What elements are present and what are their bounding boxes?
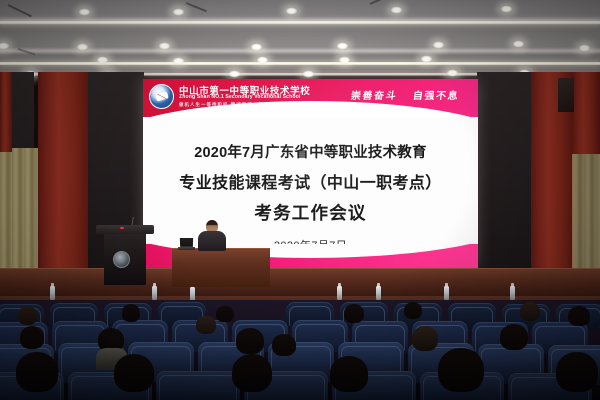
lectern-emblem-icon [113, 251, 130, 268]
ceiling-rail [186, 2, 207, 12]
recessed-downlight [512, 40, 525, 48]
water-bottle [152, 286, 157, 300]
right-speaker-box [558, 78, 574, 112]
water-bottle [444, 286, 449, 300]
linear-light-strip [0, 62, 600, 65]
water-bottle [337, 286, 342, 300]
laptop-keyboard [178, 247, 195, 250]
recessed-downlight [0, 42, 10, 50]
recessed-downlight [76, 43, 89, 51]
ceiling-rail [370, 0, 393, 5]
recessed-downlight [256, 56, 269, 64]
audience-member [18, 306, 37, 325]
audience-member [272, 334, 296, 356]
water-bottle [376, 286, 381, 300]
recessed-downlight [228, 70, 241, 78]
auditorium-seat [156, 371, 240, 400]
recessed-downlight [158, 42, 171, 50]
recessed-downlight [172, 8, 185, 16]
recessed-downlight [338, 56, 351, 64]
recessed-downlight [500, 5, 513, 13]
calligraphy-right: 自强不息 [412, 87, 460, 102]
recessed-downlight [285, 7, 298, 15]
recessed-downlight [390, 6, 403, 14]
water-bottle [510, 286, 515, 300]
title-line-1: 2020年7月广东省中等职业技术教育 [194, 141, 426, 162]
audience-member [404, 302, 422, 319]
recessed-downlight [250, 43, 263, 51]
audience-member [520, 302, 540, 321]
audience-member [556, 352, 598, 392]
lectern-indicator-light [120, 227, 124, 229]
school-name-en: Zhong Shan NO.1 Secondary Vocational Sch… [179, 94, 300, 100]
recessed-downlight [336, 42, 349, 50]
right-wall-dark-panel [477, 72, 533, 300]
audience-member [412, 326, 438, 351]
school-emblem-icon [149, 84, 174, 109]
title-line-3: 考务工作会议 [254, 200, 366, 225]
audience-member [568, 306, 590, 326]
ceiling [0, 0, 600, 76]
linear-light-strip [0, 21, 600, 24]
audience-member [20, 326, 44, 349]
lectern-top [96, 225, 154, 234]
audience-member [330, 356, 368, 392]
recessed-downlight [96, 56, 109, 64]
laptop-screen [180, 238, 193, 247]
recessed-downlight [420, 55, 433, 63]
audience-member [438, 348, 484, 392]
audience-member [216, 306, 234, 322]
screen-title-area: 2020年7月广东省中等职业技术教育 专业技能课程考试（中山一职考点） 考务工作… [143, 117, 478, 246]
ceiling-rail [18, 48, 36, 55]
conference-hall-scene: 中山市第一中等职业技术学校 Zhong Shan NO.1 Secondary … [0, 0, 600, 400]
title-line-2: 专业技能课程考试（中山一职考点） [179, 169, 441, 193]
presenter-torso [198, 231, 226, 251]
audience-member [122, 304, 140, 322]
recessed-downlight [302, 70, 315, 78]
head-table [172, 248, 270, 287]
right-wall-wood-upper [572, 72, 600, 154]
audience-member [500, 324, 528, 350]
screen-banner-header: 中山市第一中等职业技术学校 Zhong Shan NO.1 Secondary … [143, 79, 478, 117]
left-wall-wood-upper [0, 72, 12, 152]
audience-seating-area [0, 300, 600, 400]
lectern [100, 225, 150, 285]
laptop [178, 238, 195, 250]
calligraphy-left: 崇善奋斗 [350, 87, 398, 102]
audience-member [196, 316, 216, 334]
audience-member [114, 354, 154, 392]
water-bottle [190, 287, 195, 301]
recessed-downlight [432, 41, 445, 49]
left-wall-wood-panel [38, 72, 90, 300]
water-bottle [50, 286, 55, 300]
audience-member [236, 328, 264, 354]
audience-member [344, 304, 364, 323]
ceiling-rail [8, 4, 32, 17]
recessed-downlight [446, 69, 459, 77]
recessed-downlight [78, 8, 91, 16]
audience-member [232, 354, 272, 392]
seated-presenter [198, 220, 226, 250]
audience-member [16, 352, 58, 392]
recessed-downlight [578, 44, 591, 52]
recessed-downlight [172, 57, 185, 65]
